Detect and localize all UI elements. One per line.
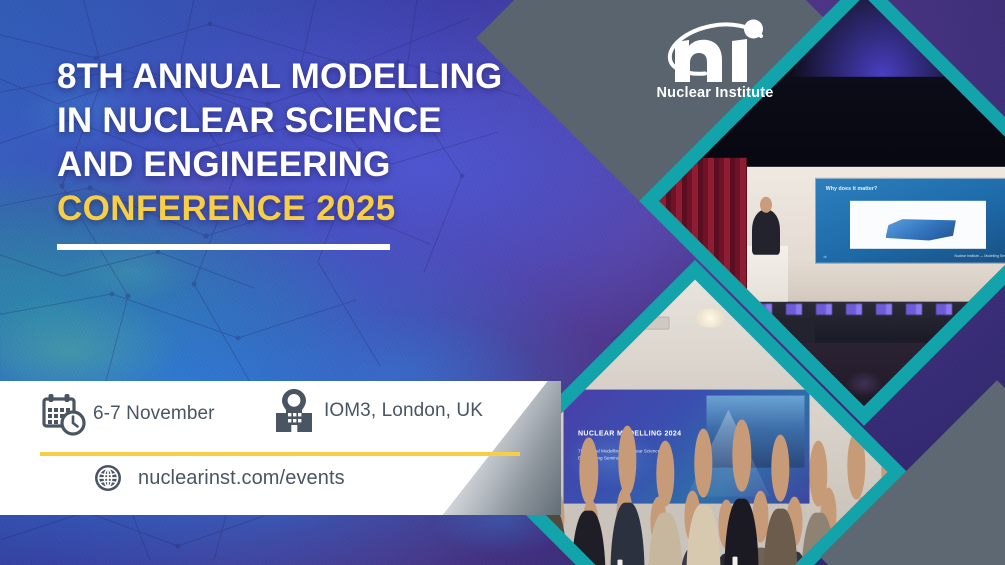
title-line-2: IN NUCLEAR SCIENCE: [57, 99, 577, 143]
slide-footnote: Nuclear Institute — Modelling Seminar: [954, 254, 1005, 258]
auditorium-monitor: [779, 320, 815, 342]
title-accent-line: CONFERENCE 2025: [57, 187, 577, 231]
nuclear-institute-ni-orbit-logo-icon: [661, 18, 769, 84]
calendar-clock-icon: [40, 390, 88, 438]
auditorium-speaker-head: [760, 196, 772, 212]
info-gold-divider: [40, 452, 520, 456]
event-venue-row: IOM3, London, UK: [272, 386, 483, 436]
event-website-text[interactable]: nuclearinst.com/events: [138, 467, 345, 490]
title-underline-rule: [57, 244, 390, 250]
slide-title: Why does it matter?: [826, 186, 877, 192]
event-website-row[interactable]: nuclearinst.com/events: [92, 462, 345, 494]
globe-icon: [92, 462, 124, 494]
conference-banner: Why does it matter? ni Nuclear Institute…: [0, 0, 1005, 565]
event-date-text: 6-7 November: [93, 403, 215, 425]
slide-logo: ni: [824, 254, 827, 258]
event-venue-text: IOM3, London, UK: [324, 400, 483, 422]
location-building-pin-icon: [272, 386, 316, 436]
group-ceiling-light: [695, 308, 725, 327]
banner-title: 8TH ANNUAL MODELLING IN NUCLEAR SCIENCE …: [57, 55, 577, 250]
auditorium-speaker: [752, 210, 780, 255]
slide-image-area: [850, 201, 985, 249]
nuclear-institute-logo: Nuclear Institute: [640, 18, 790, 118]
title-line-1: 8TH ANNUAL MODELLING: [57, 55, 577, 99]
event-date-row: 6-7 November: [40, 390, 215, 438]
slide-3d-model: [886, 219, 956, 240]
auditorium-projection-screen: Why does it matter? ni Nuclear Institute…: [815, 178, 1005, 264]
title-line-3: AND ENGINEERING: [57, 143, 577, 187]
logo-wordmark: Nuclear Institute: [656, 85, 773, 101]
